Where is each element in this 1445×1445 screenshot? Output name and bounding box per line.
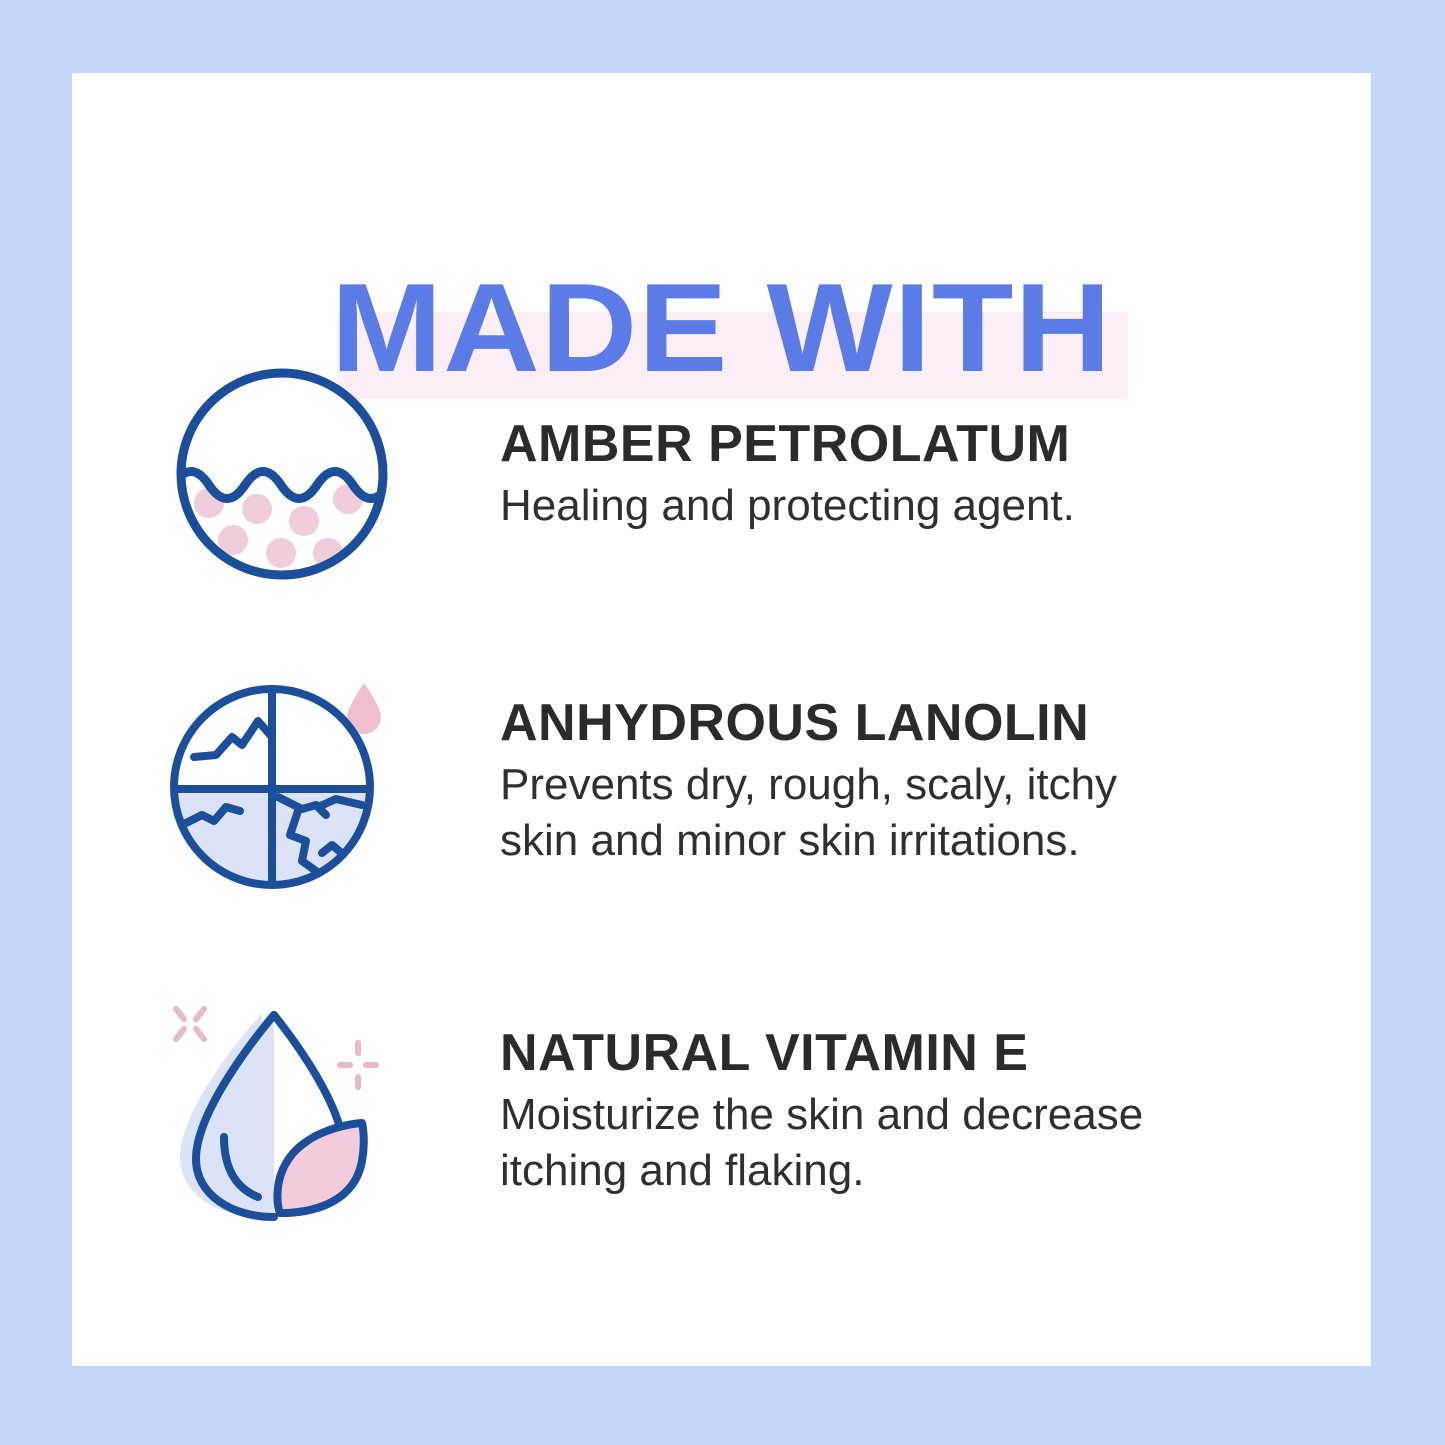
droplet-leaf-sparkle-icon xyxy=(162,991,402,1231)
ingredient-description: Healing and protecting agent. xyxy=(500,478,1075,534)
ingredient-icon-2 xyxy=(72,665,492,897)
sparkle-icon xyxy=(340,1043,376,1087)
content-card: MADE WITH xyxy=(72,73,1371,1366)
ingredient-description: Moisturize the skin and decrease itching… xyxy=(500,1087,1143,1199)
description-line: Moisturize the skin and decrease xyxy=(500,1087,1143,1143)
ingredient-title: ANHYDROUS LANOLIN xyxy=(500,693,1117,753)
sparkle-icon xyxy=(176,1009,204,1039)
list-item: ANHYDROUS LANOLIN Prevents dry, rough, s… xyxy=(72,665,1371,897)
skin-circle-dots-icon xyxy=(171,363,393,585)
description-line: skin and minor skin irritations. xyxy=(500,813,1117,869)
dry-skin-quadrant-circle-icon xyxy=(166,665,398,897)
ingredient-text-2: ANHYDROUS LANOLIN Prevents dry, rough, s… xyxy=(492,693,1117,869)
infographic-page: MADE WITH xyxy=(0,0,1445,1445)
description-line: itching and flaking. xyxy=(500,1143,1143,1199)
list-item: NATURAL VITAMIN E Moisturize the skin an… xyxy=(72,991,1371,1231)
description-line: Prevents dry, rough, scaly, itchy xyxy=(500,757,1117,813)
leaf-shape xyxy=(277,1123,363,1213)
ingredient-text-3: NATURAL VITAMIN E Moisturize the skin an… xyxy=(492,1023,1143,1199)
ingredient-description: Prevents dry, rough, scaly, itchy skin a… xyxy=(500,757,1117,869)
ingredient-title: AMBER PETROLATUM xyxy=(500,414,1075,474)
ingredient-title: NATURAL VITAMIN E xyxy=(500,1023,1143,1083)
ingredient-icon-1 xyxy=(72,363,492,585)
ingredient-icon-3 xyxy=(72,991,492,1231)
ingredient-text-1: AMBER PETROLATUM Healing and protecting … xyxy=(492,414,1075,534)
list-item: AMBER PETROLATUM Healing and protecting … xyxy=(72,363,1371,585)
description-line: Healing and protecting agent. xyxy=(500,478,1075,534)
